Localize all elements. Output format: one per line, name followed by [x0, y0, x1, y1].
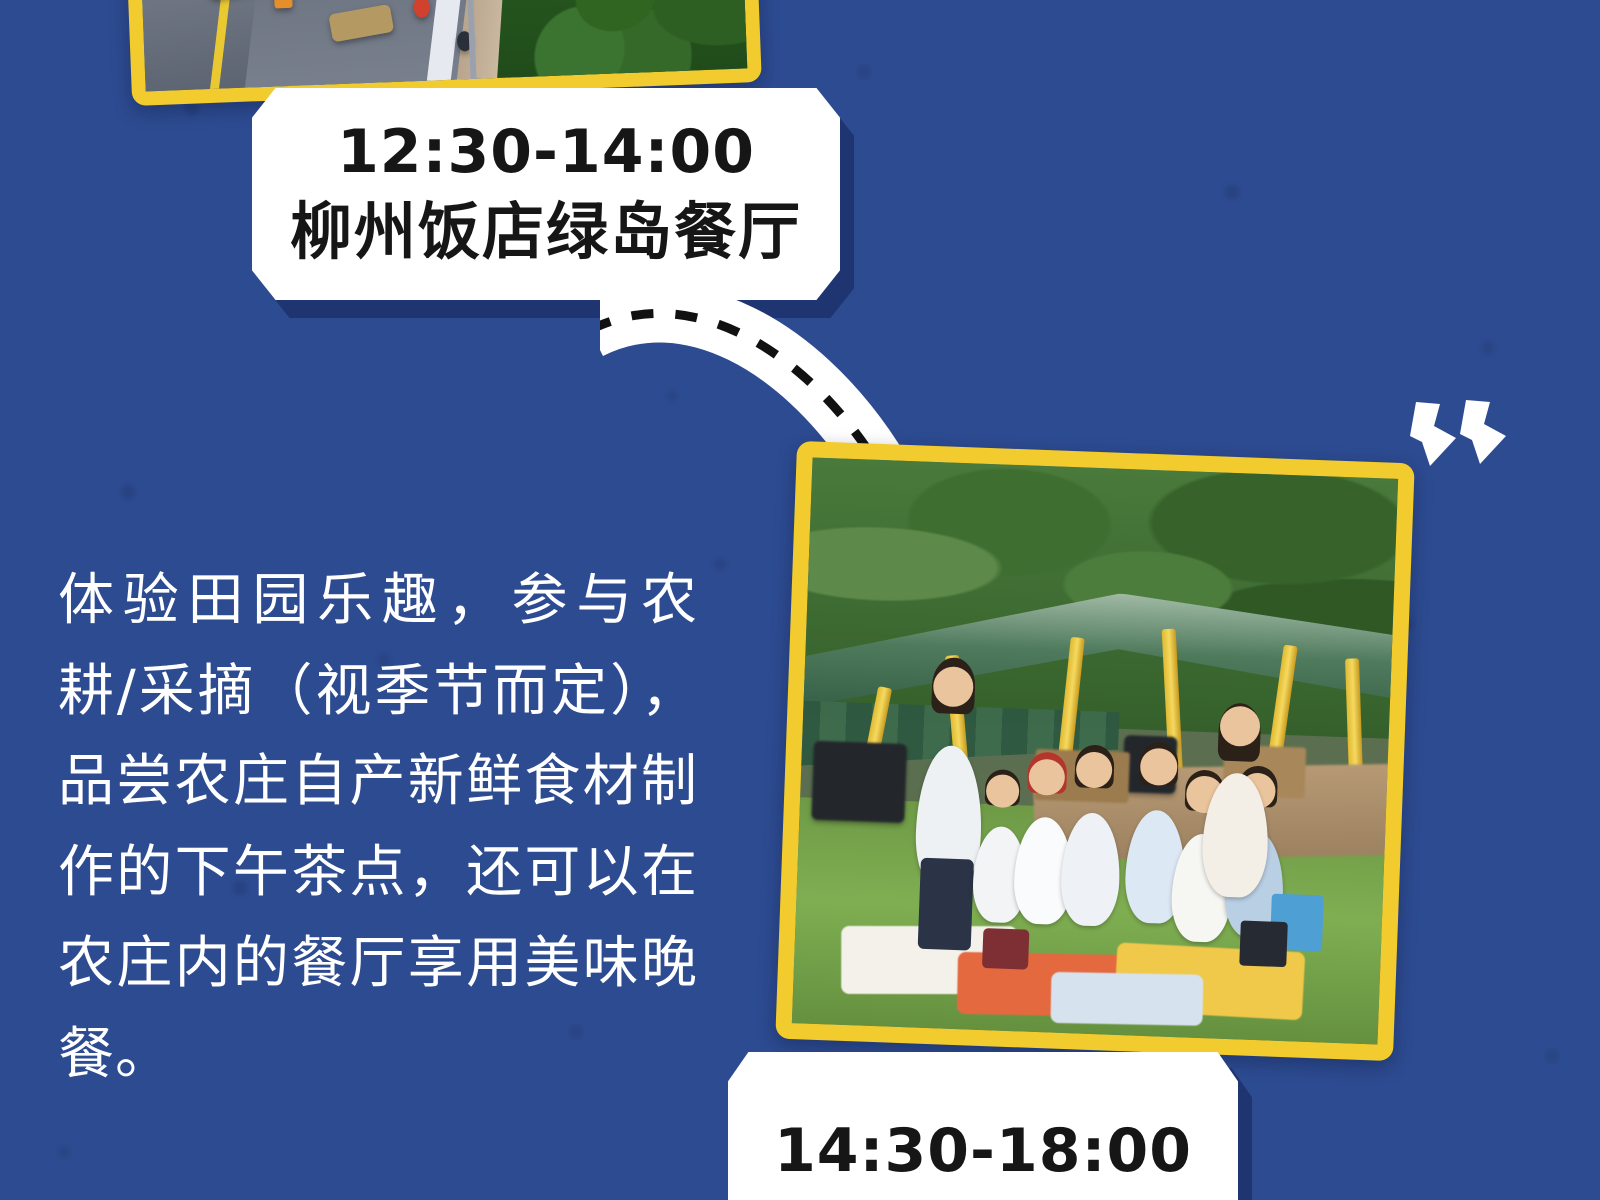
double-chevron-icon [1404, 396, 1524, 476]
schedule-label-1: 12:30-14:00 柳州饭店绿岛餐厅 [252, 88, 840, 300]
schedule-label-2: 14:30-18:00 [728, 1052, 1238, 1200]
schedule-time-1: 12:30-14:00 [337, 121, 755, 184]
chevron-svg [1404, 396, 1524, 476]
picnic-scene [792, 457, 1398, 1044]
photo-street-image [139, 0, 748, 91]
schedule-time-2: 14:30-18:00 [774, 1120, 1192, 1183]
description-paragraph: 体验田园乐趣，参与农耕/采摘（视季节而定），品尝农庄自产新鲜食材制作的下午茶点，… [58, 556, 698, 1100]
schedule-place-1: 柳州饭店绿岛餐厅 [290, 196, 802, 267]
photo-card-picnic [775, 441, 1414, 1061]
itinerary-poster: 12:30-14:00 柳州饭店绿岛餐厅 体验田园乐趣，参与农耕/采摘（视季节而… [0, 0, 1600, 1200]
photo-picnic-image [792, 457, 1398, 1044]
street-scene [139, 0, 748, 91]
